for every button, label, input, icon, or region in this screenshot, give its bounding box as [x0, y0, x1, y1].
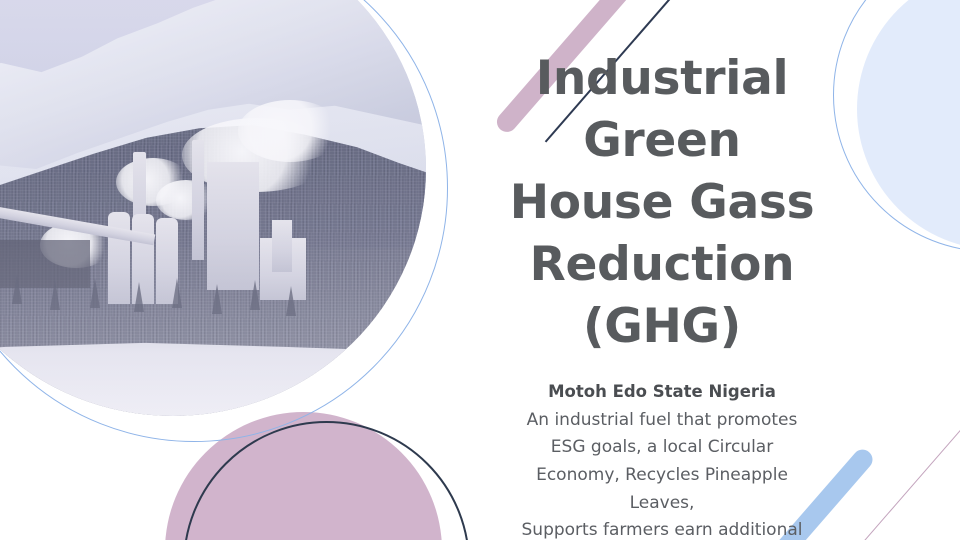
circle-navy-outline-decoration — [183, 421, 470, 540]
photo-color-tint — [0, 0, 426, 416]
presentation-slide: Industrial Green House Gass Reduction (G… — [0, 0, 960, 540]
slide-subhead: Motoh Edo State Nigeria — [452, 380, 872, 405]
slide-text-column: Industrial Green House Gass Reduction (G… — [452, 48, 872, 540]
photo-artwork — [0, 0, 426, 416]
circle-blue-fill-decoration — [857, 0, 960, 250]
circle-pink-fill-decoration — [165, 412, 442, 540]
slide-title: Industrial Green House Gass Reduction (G… — [452, 48, 872, 358]
industrial-cement-plant-snowy-mountain-photo — [0, 0, 426, 416]
slide-body-copy: An industrial fuel that promotes ESG goa… — [452, 407, 872, 540]
